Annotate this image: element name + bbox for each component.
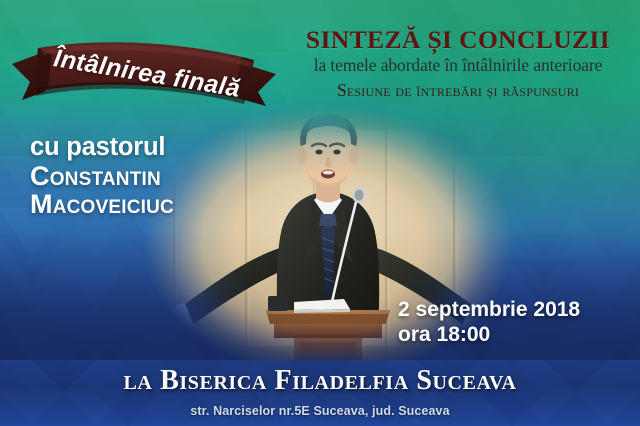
- headline-session: Sesiune de întrebări şi răspunsuri: [282, 79, 634, 102]
- venue-band: la Biserica Filadelfia Suceava str. Narc…: [0, 360, 640, 426]
- event-time: ora 18:00: [398, 323, 624, 348]
- ribbon-banner: Întâlnirea finală: [8, 30, 280, 116]
- speaker-last-name: Macoveiciuc: [30, 190, 280, 219]
- venue-name: la Biserica Filadelfia Suceava: [0, 365, 640, 397]
- speaker-block: cu pastorul Constantin Macoveiciuc: [30, 134, 280, 219]
- event-poster: Întâlnirea finală SINTEZĂ ȘI CONCLUZII l…: [0, 0, 640, 426]
- event-date: 2 septembrie 2018: [398, 298, 624, 323]
- venue-text-block: la Biserica Filadelfia Suceava str. Narc…: [0, 360, 640, 426]
- speaker-prefix: cu pastorul: [30, 134, 280, 161]
- venue-address: str. Narciselor nr.5E Suceava, jud. Suce…: [0, 404, 640, 418]
- headline-title: SINTEZĂ ȘI CONCLUZII: [282, 27, 634, 53]
- event-datetime-block: 2 septembrie 2018 ora 18:00: [398, 298, 624, 348]
- speaker-first-name: Constantin: [30, 162, 280, 191]
- headline-block: SINTEZĂ ȘI CONCLUZII la temele abordate …: [282, 27, 634, 102]
- headline-subtitle: la temele abordate în întâlnirile anteri…: [282, 54, 634, 77]
